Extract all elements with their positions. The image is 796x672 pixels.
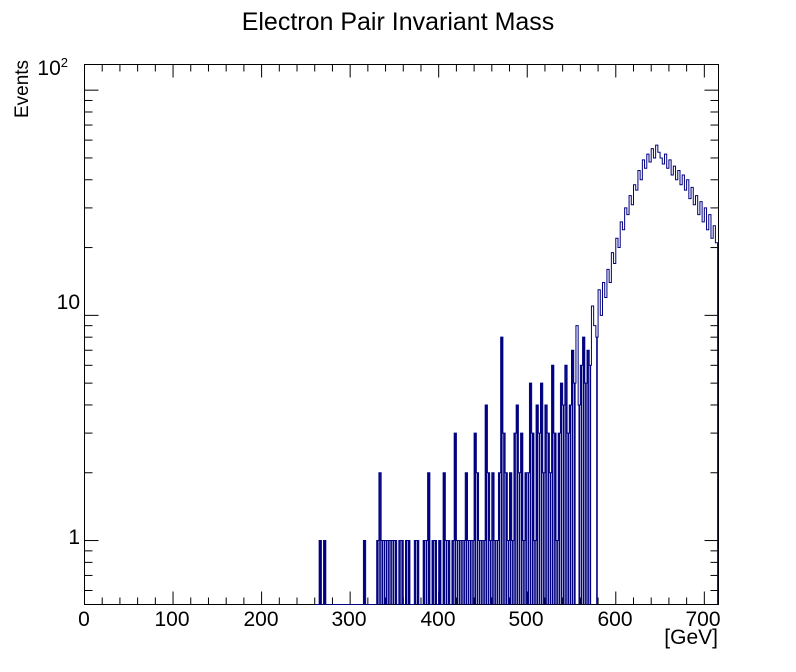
- axis-ticks: [85, 65, 719, 605]
- plot-canvas: Electron Pair Invariant Mass Events [GeV…: [0, 0, 796, 672]
- histogram-outline: [315, 145, 718, 604]
- histogram-plot: [0, 0, 796, 672]
- histogram-steps: [315, 145, 718, 604]
- plot-frame: [85, 65, 719, 605]
